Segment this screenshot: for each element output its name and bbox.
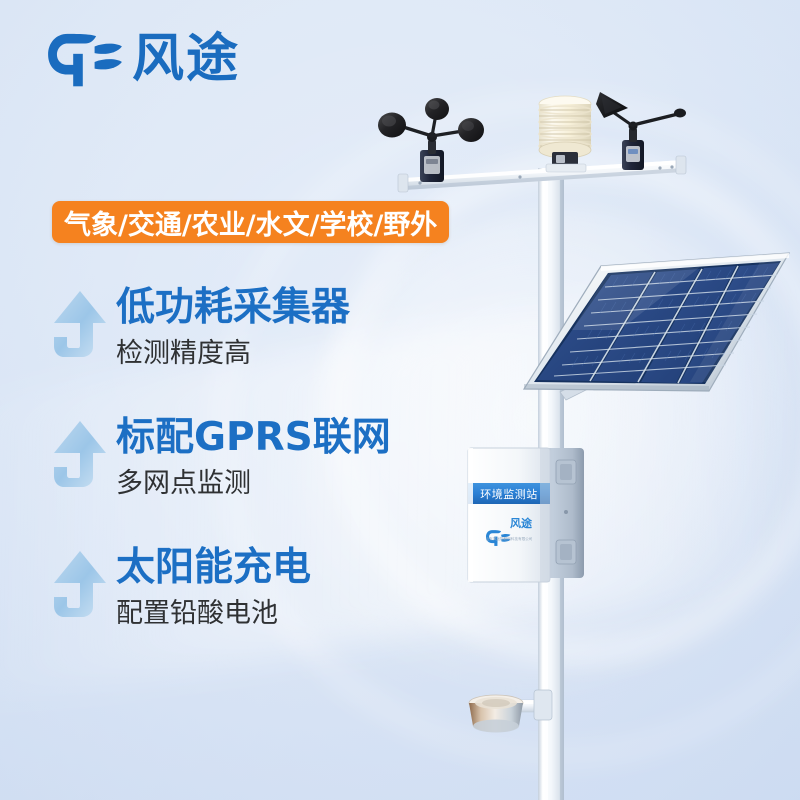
cup-anemometer [378,98,484,182]
feature-title: 低功耗采集器 [116,285,350,330]
enclosure-box: 环境监测站 风途 山东风途物联网科技有限公司 [468,448,584,582]
svg-text:山东风途物联网科技有限公司: 山东风途物联网科技有限公司 [486,536,533,541]
brand-name: 风途 [132,33,240,85]
scenario-tag: 气象/交通/农业/水文/学校/野外 [52,201,449,243]
feature-item-2: 标配GPRS联网 多网点监测 [52,413,432,543]
radiation-shield [539,96,591,172]
up-arrow-icon [52,289,108,361]
solar-cells [537,263,779,383]
feature-list: 低功耗采集器 检测精度高 标配GPRS联网 [52,283,432,673]
up-arrow-icon [52,419,108,491]
feature-item-1: 低功耗采集器 检测精度高 [52,283,432,413]
rain-gauge [469,690,552,733]
feature-subtitle: 多网点监测 [116,466,391,501]
feature-title: 太阳能充电 [116,545,311,590]
wind-vane [596,92,686,170]
feature-item-3: 太阳能充电 配置铅酸电池 [52,543,432,673]
svg-text:风途: 风途 [510,516,533,530]
cross-arm [398,156,686,192]
feature-title: 标配GPRS联网 [116,415,391,460]
feature-subtitle: 配置铅酸电池 [116,596,311,631]
solar-panel [524,253,789,400]
svg-text:环境监测站: 环境监测站 [480,487,538,501]
up-arrow-icon [52,549,108,621]
marketing-banner: 环境监测站 风途 山东风途物联网科技有限公司 [0,0,800,800]
feature-subtitle: 检测精度高 [116,336,350,371]
mast-pole [538,168,564,800]
brand-logo: 风途 [48,28,240,90]
fengtu-g-leaf-logo [48,28,122,90]
